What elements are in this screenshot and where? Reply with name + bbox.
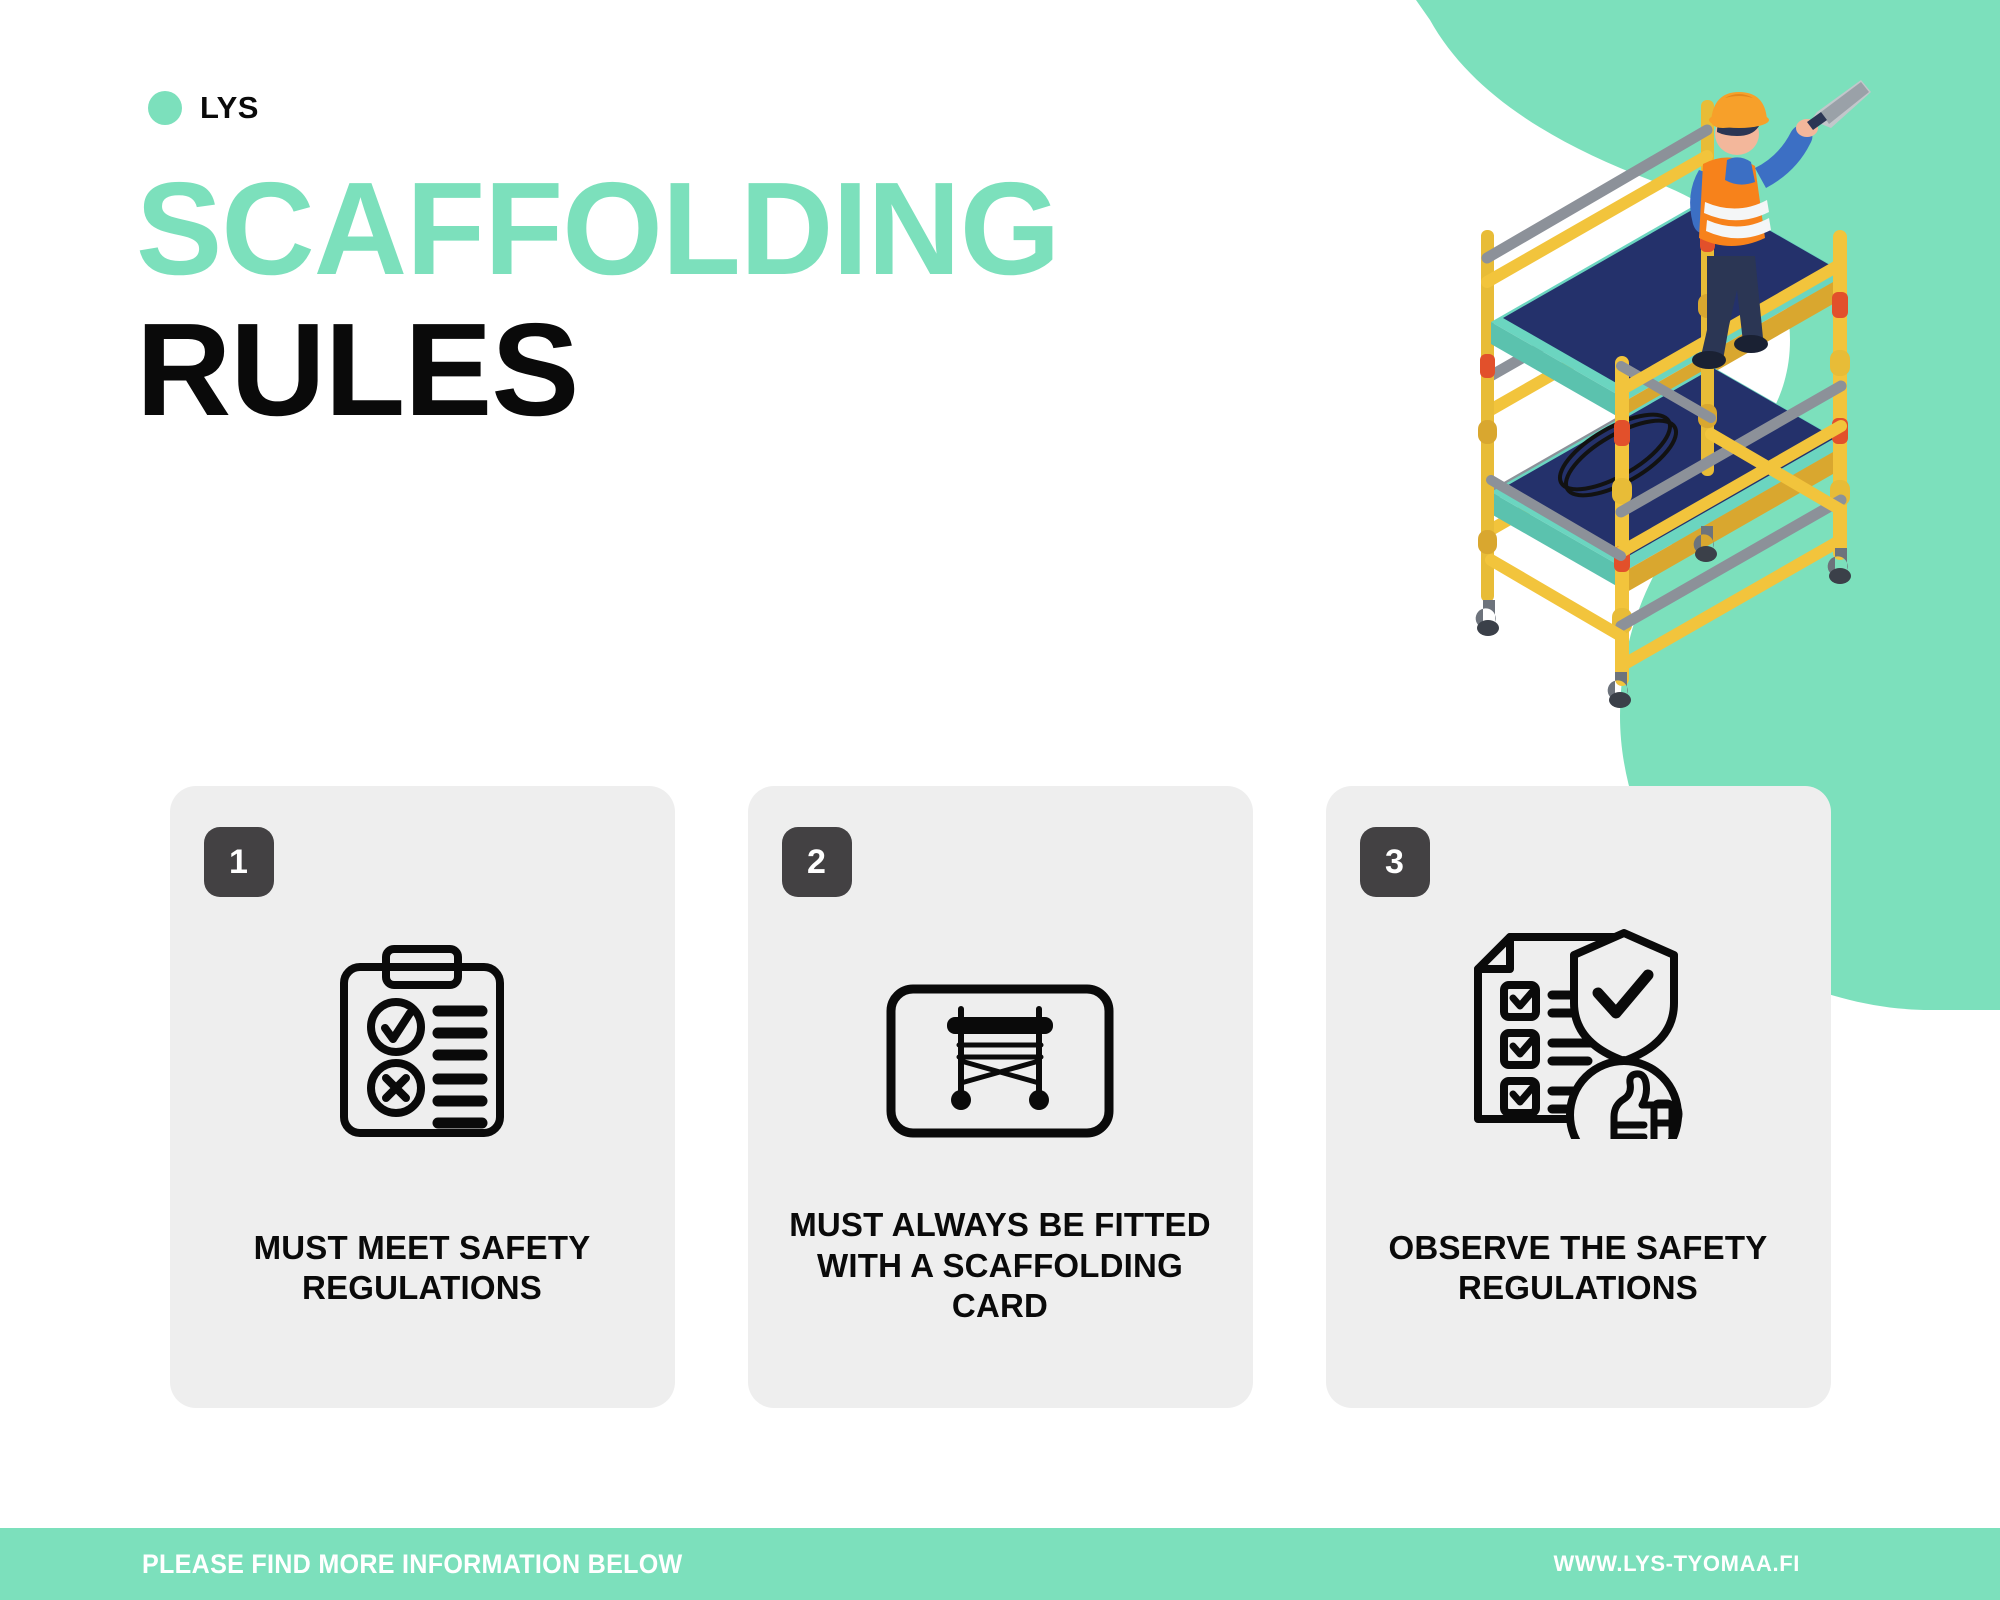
brand-logo: LYS bbox=[148, 90, 259, 126]
clipboard-check-cross-icon bbox=[297, 918, 547, 1168]
rule-card-2-caption: MUST ALWAYS BE FITTED WITH A SCAFFOLDING… bbox=[748, 1205, 1253, 1370]
rule-card-2[interactable]: 2 MUST ALWAYS BE FITTED WITH A SCAFFOLDI… bbox=[748, 786, 1253, 1408]
page-title-line1: SCAFFOLDING bbox=[136, 168, 1059, 291]
logo-text: LYS bbox=[200, 90, 259, 126]
scaffolding-card-icon bbox=[875, 936, 1125, 1186]
rule-card-3-number: 3 bbox=[1360, 827, 1430, 897]
footer-website[interactable]: WWW.LYS-TYOMAA.FI bbox=[1554, 1551, 1800, 1577]
footer-bar: PLEASE FIND MORE INFORMATION BELOW WWW.L… bbox=[0, 1528, 2000, 1600]
rule-card-1[interactable]: 1 MUST MEET SAFETY REGULATIONS bbox=[170, 786, 675, 1408]
checklist-shield-thumbsup-icon bbox=[1453, 904, 1703, 1154]
rule-card-3[interactable]: 3 bbox=[1326, 786, 1831, 1408]
rule-card-3-caption: OBSERVE THE SAFETY REGULATIONS bbox=[1326, 1228, 1831, 1353]
page-title-line2: RULES bbox=[136, 309, 1078, 432]
rules-card-row: 1 MUST MEET SAFETY REGULATIONS 2 bbox=[0, 786, 2000, 1408]
logo-dot-icon bbox=[148, 91, 182, 125]
scaffold-illustration bbox=[1455, 60, 1875, 760]
rule-card-1-number: 1 bbox=[204, 827, 274, 897]
page-title: SCAFFOLDING RULES bbox=[136, 168, 1078, 432]
rule-card-1-caption: MUST MEET SAFETY REGULATIONS bbox=[170, 1228, 675, 1353]
rule-card-2-number: 2 bbox=[782, 827, 852, 897]
footer-message: PLEASE FIND MORE INFORMATION BELOW bbox=[142, 1549, 683, 1580]
